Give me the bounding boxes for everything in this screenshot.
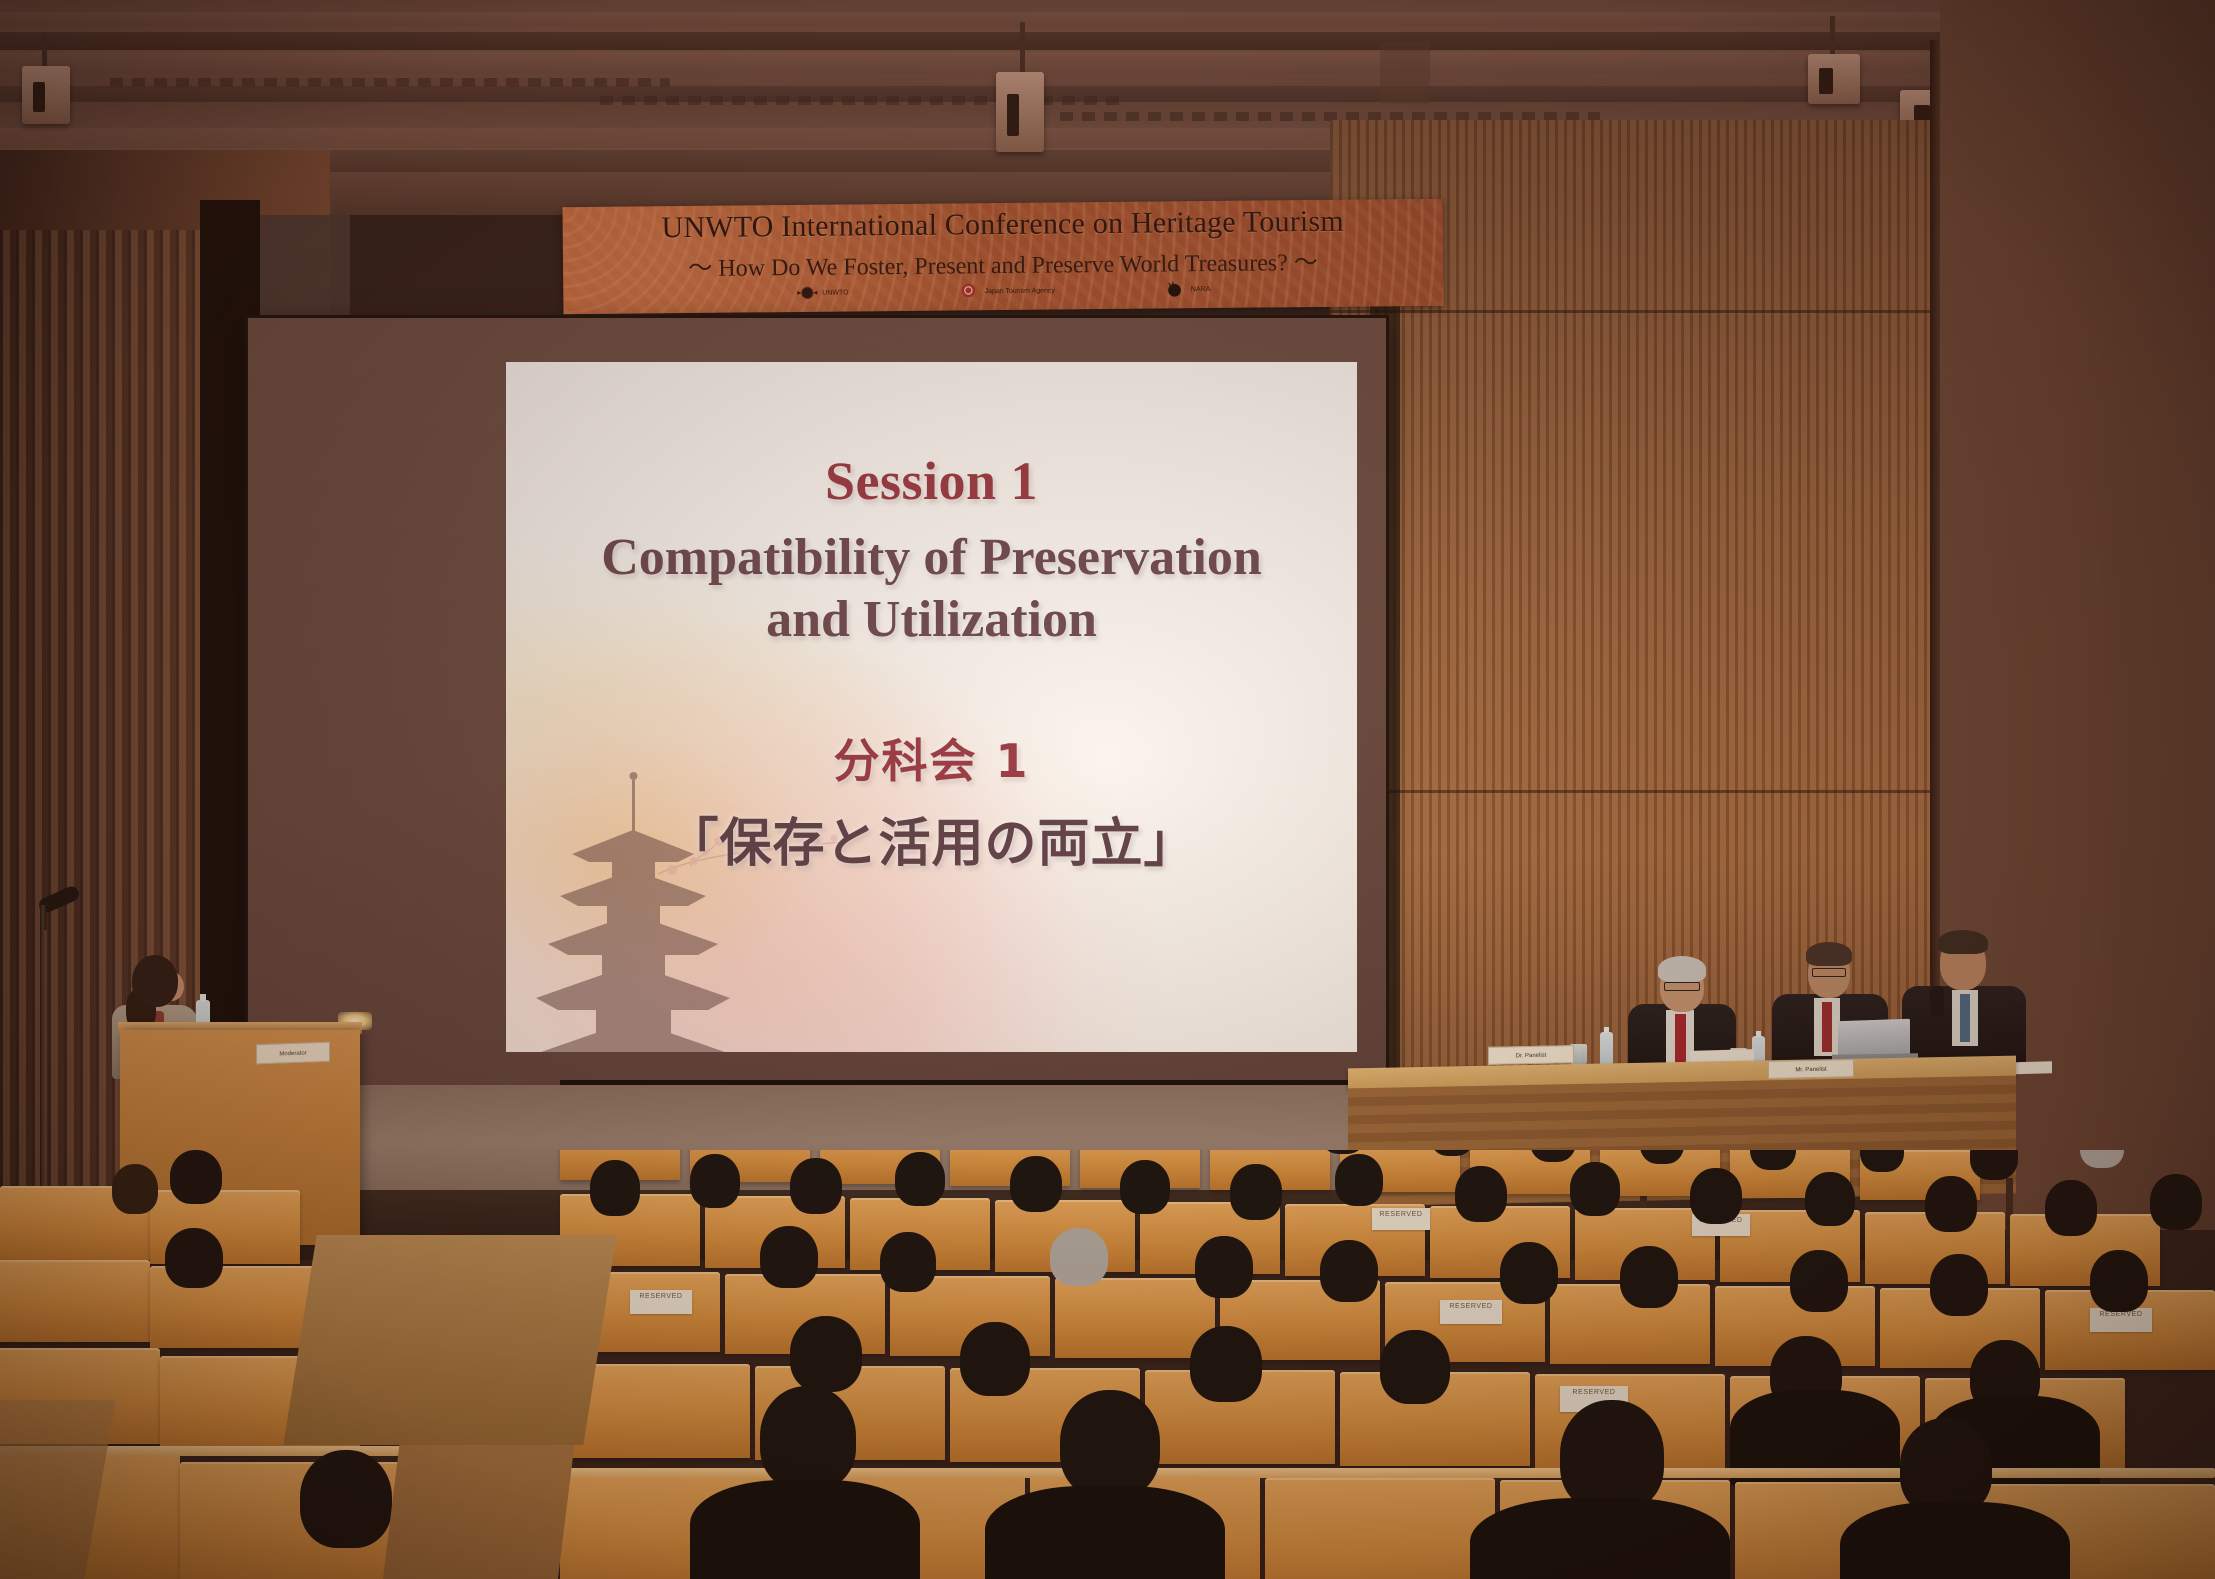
slide-jp-title: 「保存と活用の両立」 [506,801,1357,876]
jta-circle-icon [959,281,981,301]
japan-tourism-agency-logo: Japan Tourism Agency [959,281,1056,302]
slide-jp-session-label: 分科会 1 [506,725,1357,791]
panelist-2-tie [1822,1002,1832,1052]
panelist-3-tie [1960,994,1970,1042]
reserved-sign: RESERVED [630,1290,692,1314]
jta-logo-label: Japan Tourism Agency [985,287,1055,295]
slide-title-line2: and Utilization [506,590,1357,650]
spotlight-stem [42,34,47,68]
reserved-sign: RESERVED [1372,1208,1430,1230]
panelist-3-hair [1938,930,1988,954]
moderator-hair [132,955,178,1007]
slide-title-line1: Compatibility of Preservation [506,528,1357,588]
panelist-3 [1900,928,2030,1068]
panelist-2-glasses [1812,968,1846,977]
ceiling-spotlight-3 [1808,54,1860,104]
spotlight-stem [1830,16,1835,58]
handheld-microphone-icon [1930,986,1944,1016]
reserved-sign: RESERVED [1440,1300,1502,1324]
unwto-logo: UNWTO [796,282,849,303]
unwto-globe-icon [796,283,818,303]
auditorium-floor [283,1235,616,1445]
ceiling-spotlight-2 [996,72,1044,152]
nara-logo: NARA [1165,279,1211,299]
podium-nameplate: Moderator [256,1042,330,1065]
panelist-2-hair [1806,942,1852,966]
unwto-logo-label: UNWTO [822,289,848,296]
ceiling-spotlight-1 [22,66,70,124]
auditorium-scene: UNWTO International Conference on Herita… [0,0,2215,1579]
projected-slide: Session 1 Compatibility of Preservation … [506,362,1357,1052]
nara-deer-icon [1165,279,1187,299]
conference-banner: UNWTO International Conference on Herita… [563,199,1444,314]
slide-session-label: Session 1 [506,450,1357,512]
panelist-3-nameplate: Mr. Panelist [1768,1059,1854,1079]
panelist-1-hair [1658,956,1706,982]
nara-logo-label: NARA [1191,286,1211,293]
panelist-1-glasses [1664,982,1700,991]
panelist-1-nameplate: Dr. Panelist [1488,1045,1574,1065]
panelist-1-tie [1675,1014,1686,1066]
slide-text-block: Session 1 Compatibility of Preservation … [506,450,1357,876]
spotlight-stem [1020,22,1025,76]
